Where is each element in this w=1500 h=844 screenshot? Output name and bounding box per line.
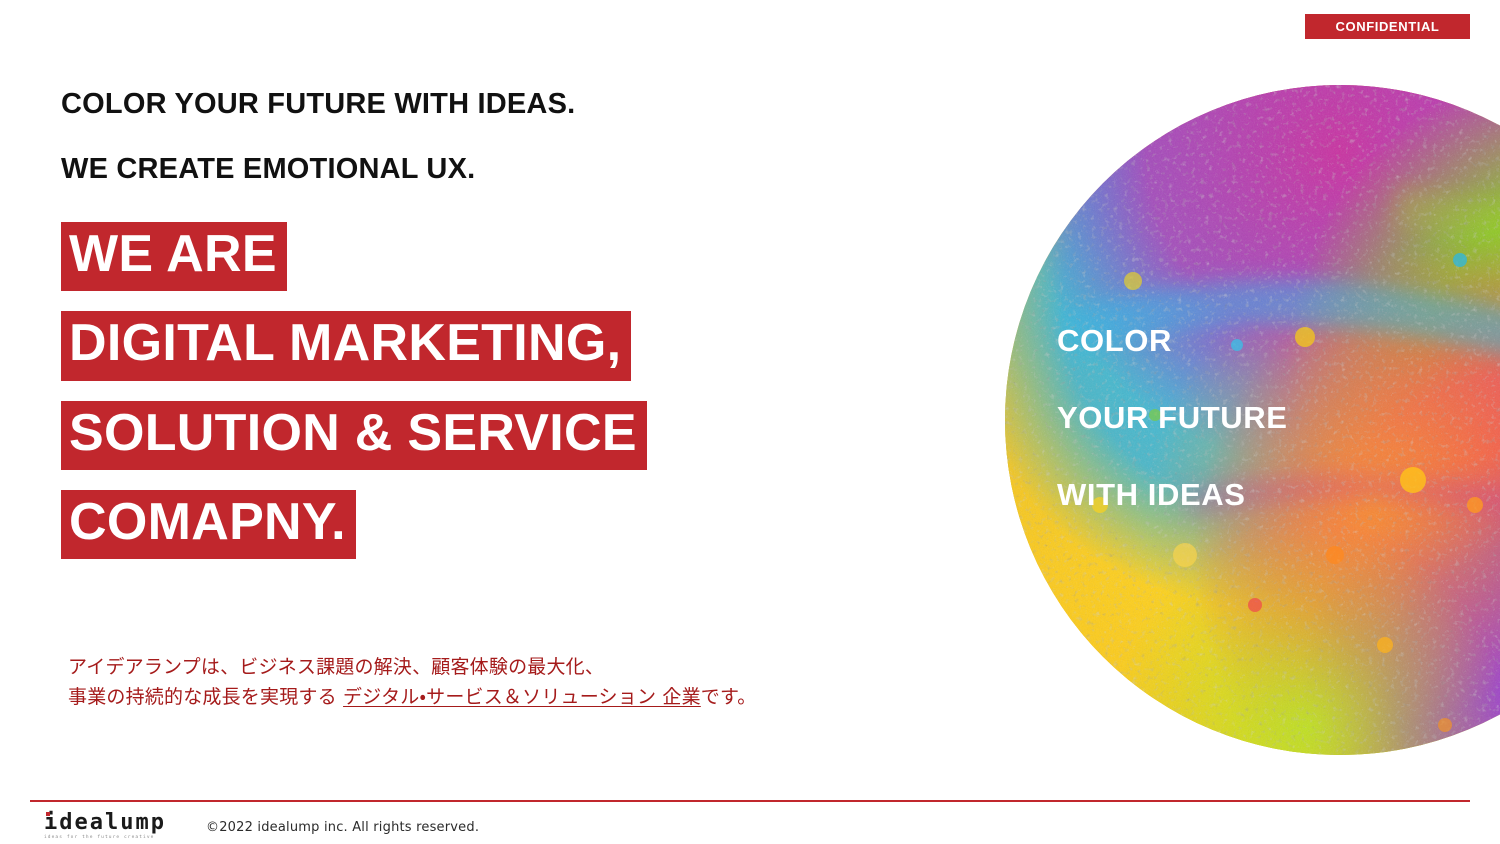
footer-divider xyxy=(30,800,1470,802)
description-line-2: 事業の持続的な成長を実現する デジタル・サービス＆ソリューション 企業です。 xyxy=(68,682,757,712)
copyright-text: ©2022 idealump inc. All rights reserved. xyxy=(206,820,479,835)
headline-group: COLOR YOUR FUTURE WITH IDEAS. WE CREATE … xyxy=(61,90,761,184)
statement-row: DIGITAL MARKETING, xyxy=(61,311,821,380)
artwork-caption-line-3: WITH IDEAS xyxy=(1057,479,1397,510)
logo-accent-dot xyxy=(46,812,50,816)
description-line-2-suffix: です。 xyxy=(701,686,757,708)
confidential-badge: CONFIDENTIAL xyxy=(1305,14,1470,39)
statement-line-4: COMAPNY. xyxy=(61,490,356,559)
headline-line-1: COLOR YOUR FUTURE WITH IDEAS. xyxy=(61,90,761,119)
statement-row: SOLUTION & SERVICE xyxy=(61,401,821,470)
description-link[interactable]: デジタル・サービス＆ソリューション 企業 xyxy=(343,686,701,708)
idealump-logo: idealump ideas for the future creative xyxy=(44,812,168,842)
artwork-caption-line-2: YOUR FUTURE xyxy=(1057,402,1397,433)
footer: idealump ideas for the future creative ©… xyxy=(44,812,479,842)
statement-line-1: WE ARE xyxy=(61,222,287,291)
statement-row: COMAPNY. xyxy=(61,490,821,559)
slide-canvas: CONFIDENTIAL COLOR YOUR FUTURE WITH IDEA… xyxy=(0,0,1500,844)
statement-block: WE ARE DIGITAL MARKETING, SOLUTION & SER… xyxy=(61,222,821,559)
description-block: アイデアランプは、ビジネス課題の解決、顧客体験の最大化、 事業の持続的な成長を実… xyxy=(68,652,757,713)
statement-row: WE ARE xyxy=(61,222,821,291)
logo-tagline: ideas for the future creative xyxy=(44,835,168,841)
artwork-caption: COLOR YOUR FUTURE WITH IDEAS xyxy=(1057,325,1397,510)
description-line-1: アイデアランプは、ビジネス課題の解決、顧客体験の最大化、 xyxy=(68,652,757,682)
description-line-2-prefix: 事業の持続的な成長を実現する xyxy=(68,686,343,708)
logo-wordmark: idealump xyxy=(44,812,168,834)
statement-line-2: DIGITAL MARKETING, xyxy=(61,311,631,380)
statement-line-3: SOLUTION & SERVICE xyxy=(61,401,647,470)
headline-line-2: WE CREATE EMOTIONAL UX. xyxy=(61,155,761,184)
artwork-caption-line-1: COLOR xyxy=(1057,325,1397,356)
